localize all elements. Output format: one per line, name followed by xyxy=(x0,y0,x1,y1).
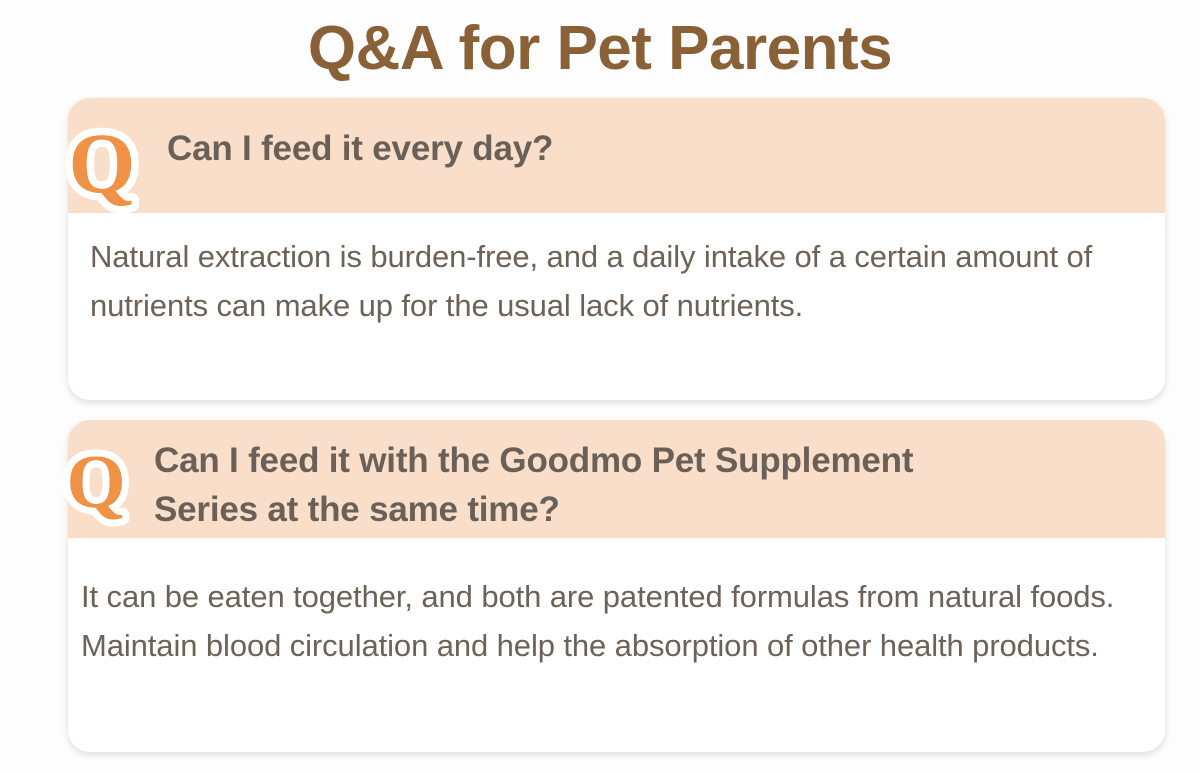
qa-page: Q&A for Pet Parents Can I feed it every … xyxy=(0,0,1200,773)
question-badge-icon: Q Q xyxy=(50,436,142,528)
faq-card-inner: Can I feed it every day? Natural extract… xyxy=(68,98,1165,400)
question-header-band: Can I feed it with the Goodmo Pet Supple… xyxy=(68,420,1165,538)
answer-text: It can be eaten together, and both are p… xyxy=(81,572,1146,670)
svg-text:Q: Q xyxy=(66,440,125,524)
faq-card[interactable]: Can I feed it every day? Natural extract… xyxy=(68,98,1165,400)
svg-text:Q: Q xyxy=(69,115,136,211)
faq-card-inner: Can I feed it with the Goodmo Pet Supple… xyxy=(68,420,1165,752)
question-text: Can I feed it every day? xyxy=(167,126,1107,172)
answer-text: Natural extraction is burden-free, and a… xyxy=(90,232,1125,330)
question-text: Can I feed it with the Goodmo Pet Supple… xyxy=(154,436,1024,534)
question-badge-icon: Q Q xyxy=(50,112,154,216)
page-title: Q&A for Pet Parents xyxy=(0,6,1200,92)
question-header-band: Can I feed it every day? xyxy=(68,98,1165,213)
faq-card[interactable]: Can I feed it with the Goodmo Pet Supple… xyxy=(68,420,1165,752)
